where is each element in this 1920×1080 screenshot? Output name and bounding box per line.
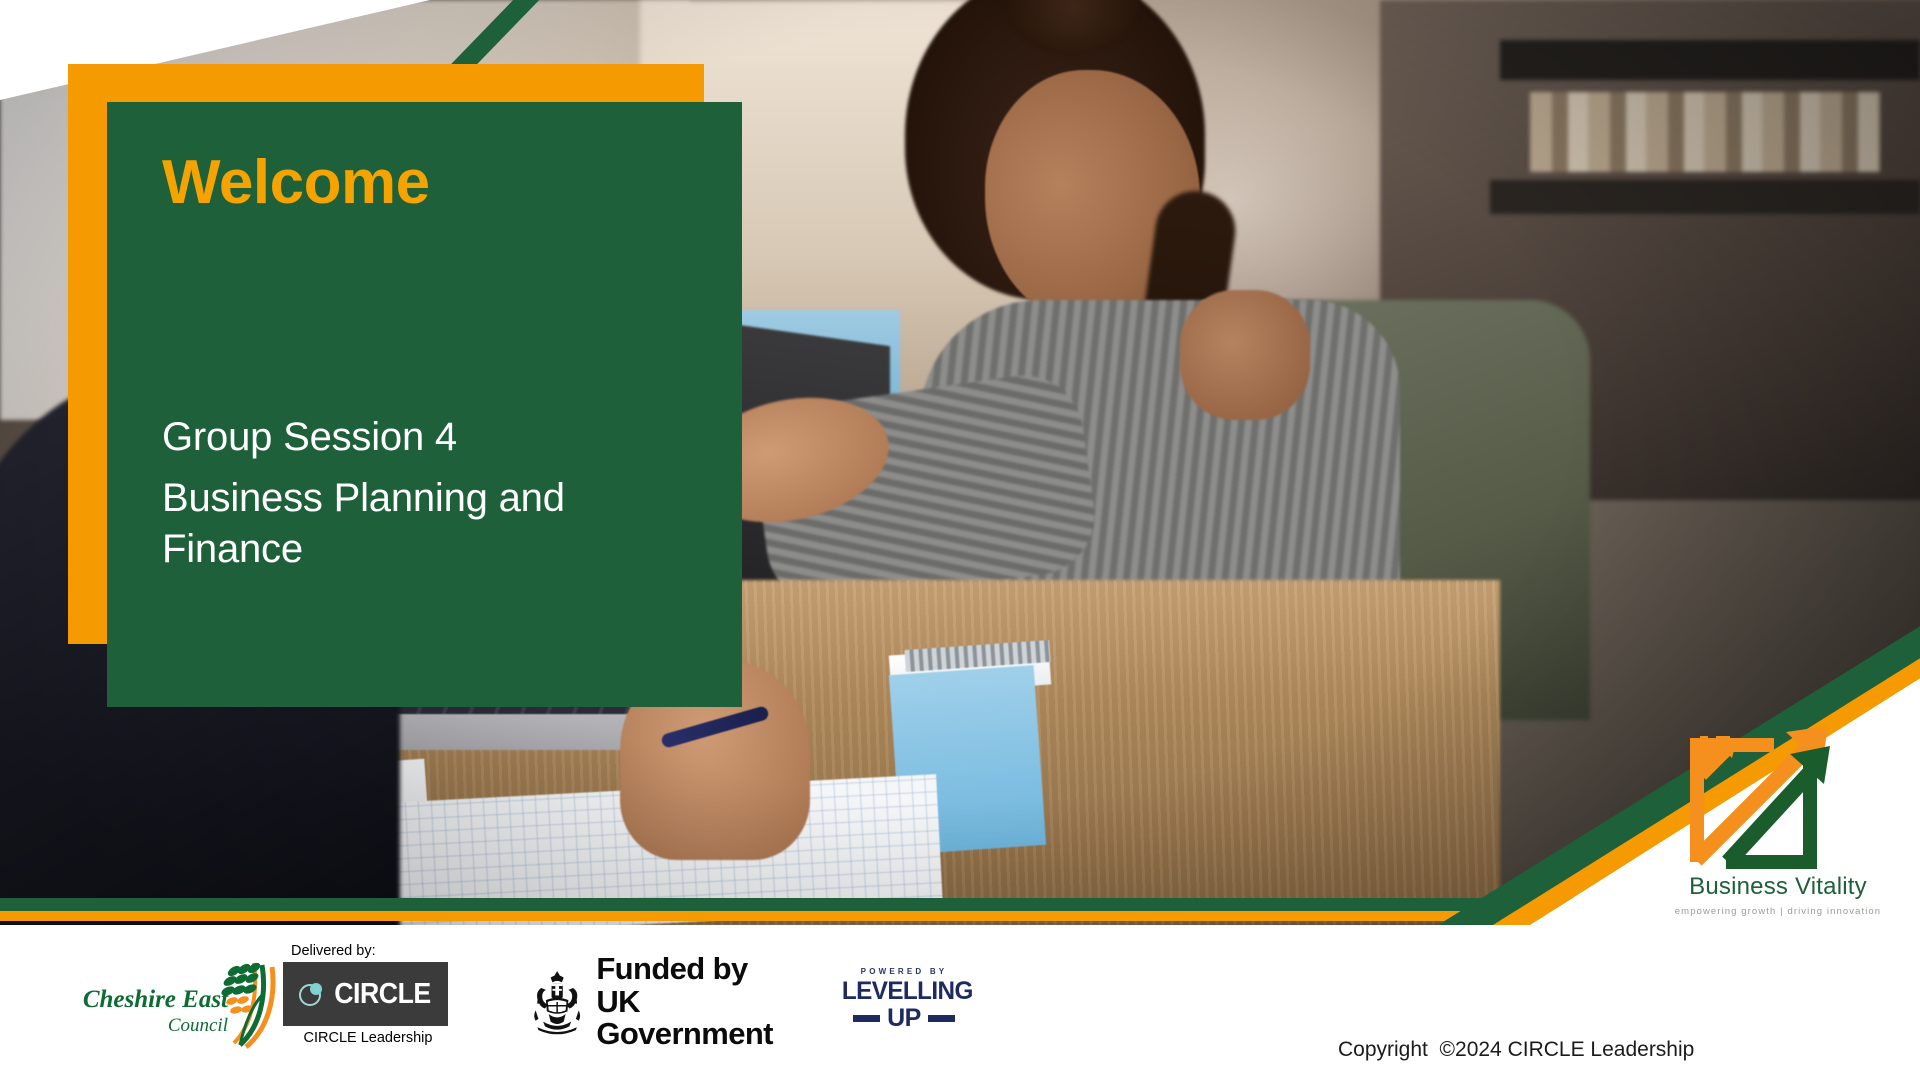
up-wordmark: UP [887, 1006, 921, 1031]
copyright-notice: Copyright ©2024 CIRCLE Leadership [1338, 1038, 1694, 1062]
circle-caption: CIRCLE Leadership [283, 1030, 453, 1046]
funded-by-wordmark: Funded by UK Government [596, 953, 810, 1052]
rule-left [853, 1015, 880, 1022]
delivered-by-label: Delivered by: [291, 943, 453, 959]
funded-by-uk-government-logo: Funded by UK Government [530, 963, 810, 1041]
brand-name: Business Vitality [1672, 873, 1884, 901]
brand-tagline: empowering growth | driving innovation [1672, 906, 1884, 917]
funded-line1: Funded by [596, 953, 810, 986]
royal-coat-of-arms-icon [530, 967, 584, 1037]
funded-line2: UK Government [596, 986, 810, 1052]
session-topic: Business Planning and Finance [162, 473, 712, 575]
cheshire-east-wordmark: Cheshire East Council [78, 987, 228, 1035]
presentation-slide: Welcome Group Session 4 Business Plannin… [0, 0, 1920, 1080]
rule-right [928, 1015, 955, 1022]
cheshire-east-line2: Council [78, 1016, 228, 1035]
powered-by-label: POWERED BY [840, 967, 968, 976]
circle-leadership-logo: Delivered by: CIRCLE CIRCLE Leadership [283, 943, 453, 1061]
levelling-up-row: UP [840, 1006, 968, 1031]
session-label: Group Session 4 [162, 412, 712, 463]
growth-arrows-icon [1678, 702, 1878, 877]
circle-dot-icon [297, 980, 325, 1008]
circle-wordmark: CIRCLE [334, 978, 431, 1011]
subtitle-group: Group Session 4 Business Planning and Fi… [162, 412, 712, 574]
title-card: Welcome Group Session 4 Business Plannin… [107, 102, 742, 707]
page-title: Welcome [162, 150, 702, 215]
wheat-sheaf-icon [210, 957, 280, 1052]
circle-wordmark-box: CIRCLE [283, 962, 448, 1026]
cheshire-east-line1: Cheshire East [83, 986, 228, 1013]
levelling-wordmark: LEVELLING [842, 978, 966, 1004]
business-vitality-logo: Business Vitality empowering growth | dr… [1672, 702, 1884, 942]
levelling-up-logo: POWERED BY LEVELLING UP [840, 967, 968, 1039]
cheshire-east-council-logo: Cheshire East Council [78, 957, 274, 1052]
